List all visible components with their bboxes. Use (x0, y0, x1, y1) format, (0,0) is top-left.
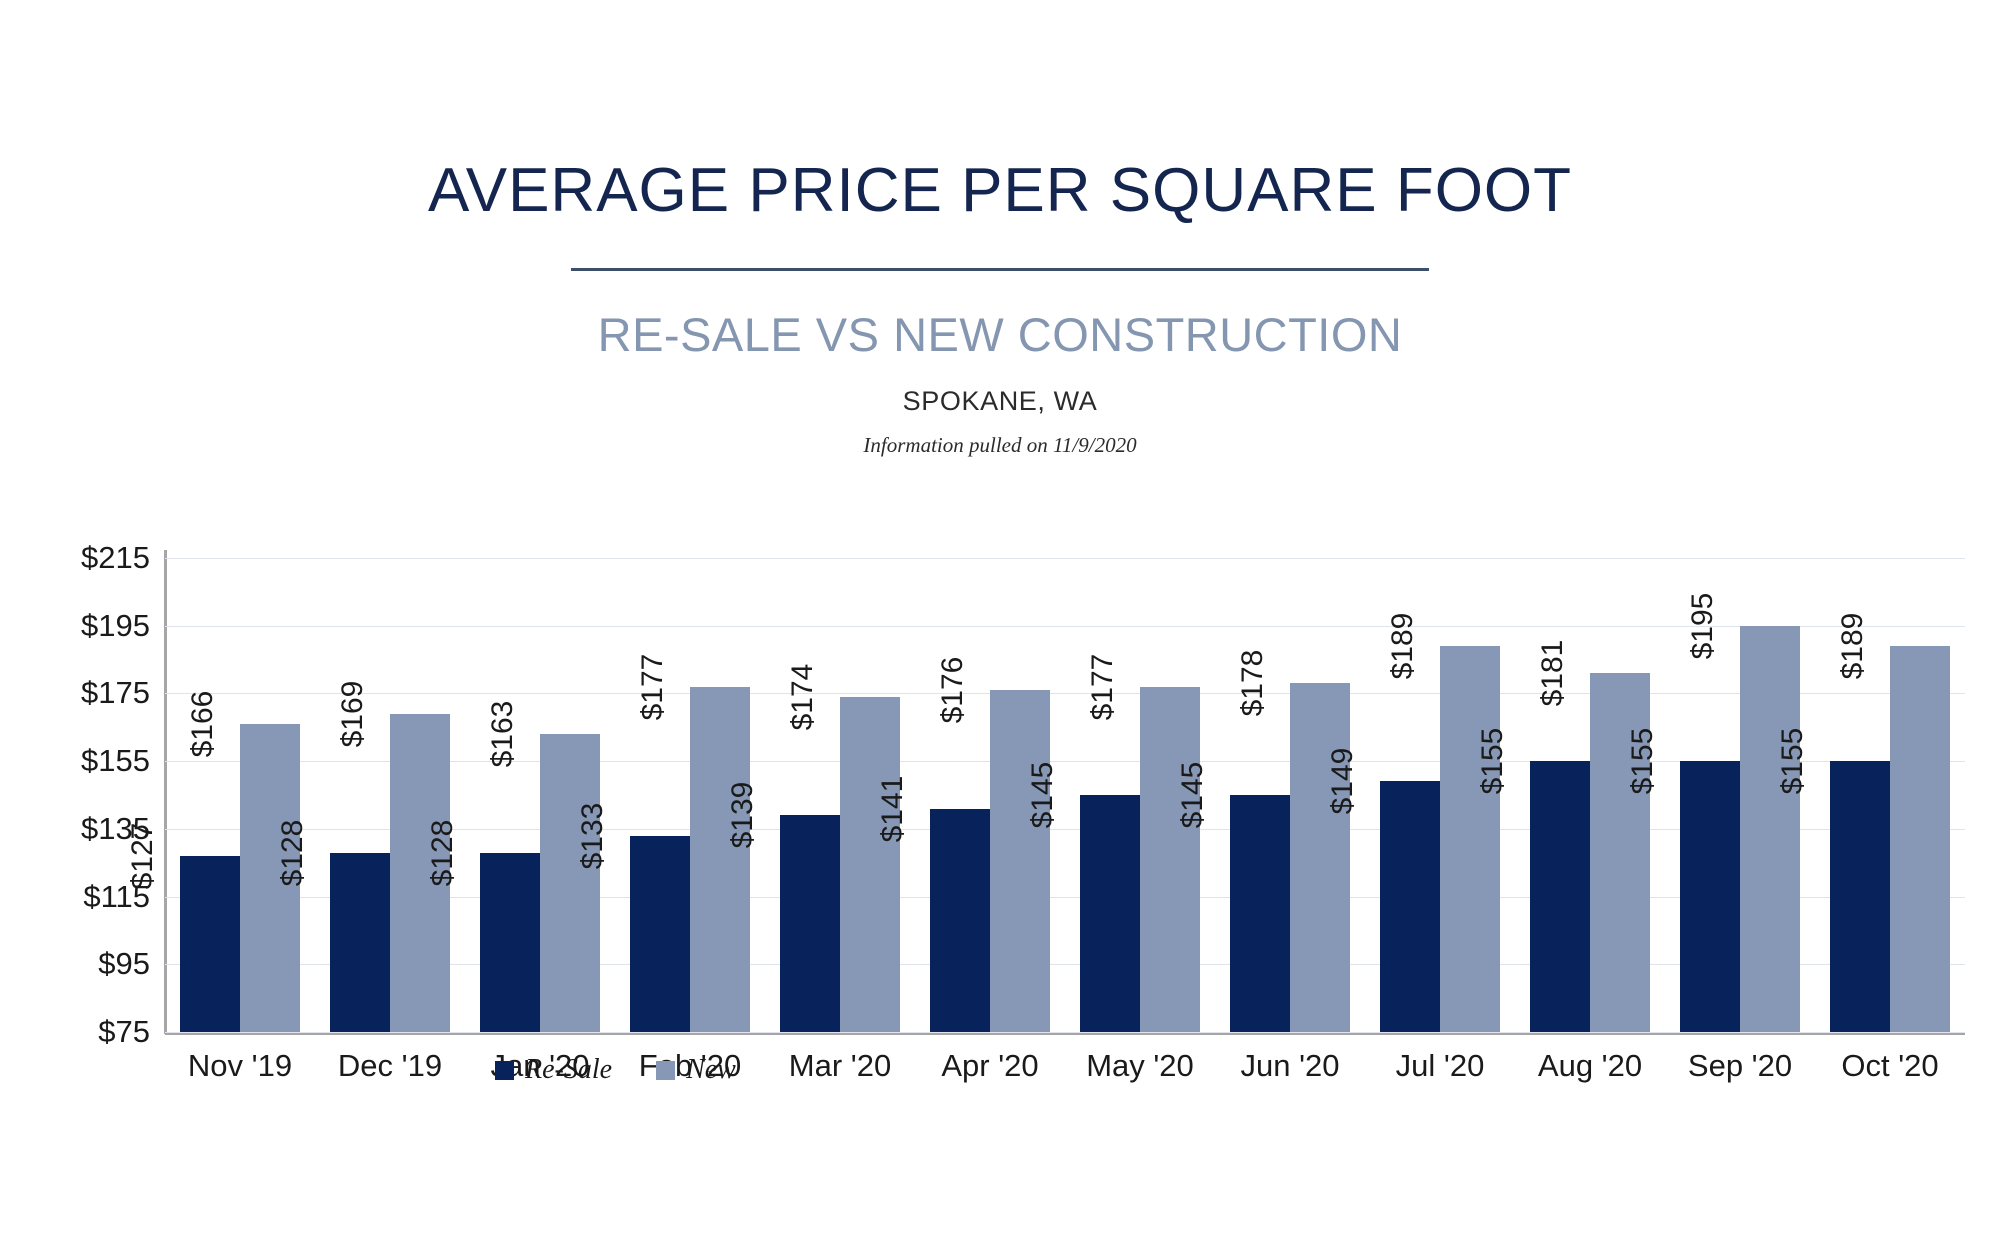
legend-item[interactable]: New (656, 1056, 736, 1084)
bar-value-label: $169 (390, 680, 420, 747)
bar-group: $128$169 (315, 558, 465, 1032)
bar-group: $155$189 (1815, 558, 1965, 1032)
bar-value-text: $155 (1778, 728, 1808, 795)
bar-value-label: $155 (1830, 728, 1860, 795)
bar-value-text: $176 (938, 657, 968, 724)
x-axis-tick: Apr '20 (915, 1048, 1065, 1084)
bar-group: $128$163 (465, 558, 615, 1032)
bar-value-label: $145 (1230, 762, 1260, 829)
bar-slot: $169 (390, 558, 450, 1032)
bar-value-label: $128 (330, 819, 360, 886)
bar-new[interactable]: $178 (1290, 683, 1350, 1032)
bar-groups: $127$166$128$169$128$163$133$177$139$174… (165, 558, 1965, 1032)
bar-value-text: $128 (428, 819, 458, 886)
legend-label: Re-Sale (525, 1056, 612, 1084)
chart-legend: Re-SaleNew (495, 1056, 736, 1084)
bar-resale[interactable]: $155 (1680, 761, 1740, 1032)
bar-value-text: $155 (1628, 728, 1658, 795)
bar-resale[interactable]: $145 (1080, 795, 1140, 1032)
bar-value-label: $145 (1080, 762, 1110, 829)
bar-chart: $215$195$175$155$135$115$95$75 $127$166$… (0, 520, 2000, 1120)
bar-value-label: $155 (1680, 728, 1710, 795)
bar-new[interactable]: $177 (690, 687, 750, 1032)
legend-swatch-icon (656, 1061, 675, 1080)
plot-area: $127$166$128$169$128$163$133$177$139$174… (165, 558, 1965, 1032)
bar-value-text: $139 (728, 782, 758, 849)
bar-slot: $166 (240, 558, 300, 1032)
bar-resale[interactable]: $141 (930, 809, 990, 1032)
bar-value-label: $141 (930, 775, 960, 842)
bar-value-text: $189 (1388, 613, 1418, 680)
bar-value-text: $169 (338, 680, 368, 747)
x-axis-tick: Jun '20 (1215, 1048, 1365, 1084)
bar-value-text: $128 (278, 819, 308, 886)
bar-value-label: $195 (1740, 592, 1770, 659)
legend-label: New (686, 1056, 736, 1084)
x-axis-tick: Sep '20 (1665, 1048, 1815, 1084)
bar-value-text: $145 (1178, 762, 1208, 829)
bar-value-text: $195 (1688, 592, 1718, 659)
bar-new[interactable]: $174 (840, 697, 900, 1032)
legend-swatch-icon (495, 1061, 514, 1080)
title-divider (571, 268, 1429, 271)
bar-value-text: $174 (788, 663, 818, 730)
bar-value-text: $181 (1538, 640, 1568, 707)
bar-resale[interactable]: $128 (330, 853, 390, 1032)
bar-new[interactable]: $163 (540, 734, 600, 1032)
bar-value-text: $141 (878, 775, 908, 842)
bar-value-text: $127 (128, 823, 158, 890)
page-title: AVERAGE PRICE PER SQUARE FOOT (0, 0, 2000, 222)
x-axis-tick: Jul '20 (1365, 1048, 1515, 1084)
bar-slot: $189 (1440, 558, 1500, 1032)
y-axis-tick: $155 (30, 743, 150, 779)
x-axis-tick: Mar '20 (765, 1048, 915, 1084)
bar-resale[interactable]: $155 (1830, 761, 1890, 1032)
bar-value-text: $177 (1088, 653, 1118, 720)
bar-slot: $181 (1590, 558, 1650, 1032)
bar-value-text: $133 (578, 802, 608, 869)
bar-value-label: $177 (1140, 653, 1170, 720)
bar-value-text: $178 (1238, 650, 1268, 717)
bar-resale[interactable]: $139 (780, 815, 840, 1032)
x-axis-tick: May '20 (1065, 1048, 1215, 1084)
data-pulled-note: Information pulled on 11/9/2020 (0, 435, 2000, 456)
bar-group: $155$181 (1515, 558, 1665, 1032)
bar-value-label: $177 (690, 653, 720, 720)
bar-resale[interactable]: $149 (1380, 781, 1440, 1032)
bar-resale[interactable]: $127 (180, 856, 240, 1032)
bar-value-label: $139 (780, 782, 810, 849)
bar-value-label: $127 (180, 823, 210, 890)
x-axis-tick: Nov '19 (165, 1048, 315, 1084)
bar-value-text: $189 (1838, 613, 1868, 680)
bar-value-label: $181 (1590, 640, 1620, 707)
bar-resale[interactable]: $133 (630, 836, 690, 1032)
bar-value-label: $189 (1440, 613, 1470, 680)
bar-value-text: $155 (1478, 728, 1508, 795)
bar-value-label: $178 (1290, 650, 1320, 717)
bar-value-text: $166 (188, 691, 218, 758)
bar-slot: $189 (1890, 558, 1950, 1032)
x-axis-line (165, 1032, 1965, 1035)
location-label: SPOKANE, WA (0, 388, 2000, 415)
bar-new[interactable]: $189 (1890, 646, 1950, 1032)
bar-resale[interactable]: $145 (1230, 795, 1290, 1032)
bar-value-label: $189 (1890, 613, 1920, 680)
x-axis-tick: Oct '20 (1815, 1048, 1965, 1084)
bar-new[interactable]: $189 (1440, 646, 1500, 1032)
x-axis-tick: Aug '20 (1515, 1048, 1665, 1084)
bar-slot: $128 (480, 558, 540, 1032)
bar-value-text: $177 (638, 653, 668, 720)
y-axis-tick: $195 (30, 608, 150, 644)
bar-value-label: $128 (480, 819, 510, 886)
bar-group: $149$189 (1365, 558, 1515, 1032)
bar-value-label: $149 (1380, 748, 1410, 815)
y-axis-tick: $215 (30, 540, 150, 576)
bar-slot: $145 (1080, 558, 1140, 1032)
y-axis-tick-labels: $215$195$175$155$135$115$95$75 (30, 520, 150, 1040)
y-axis-tick: $75 (30, 1014, 150, 1050)
bar-slot: $145 (1230, 558, 1290, 1032)
legend-item[interactable]: Re-Sale (495, 1056, 612, 1084)
bar-new[interactable]: $177 (1140, 687, 1200, 1032)
bar-value-label: $155 (1530, 728, 1560, 795)
bar-slot: $139 (780, 558, 840, 1032)
bar-new[interactable]: $176 (990, 690, 1050, 1032)
bar-slot: $128 (330, 558, 390, 1032)
y-axis-tick: $95 (30, 946, 150, 982)
bar-value-label: $174 (840, 663, 870, 730)
bar-value-text: $145 (1028, 762, 1058, 829)
bar-value-label: $163 (540, 701, 570, 768)
bar-slot: $127 (180, 558, 240, 1032)
bar-value-label: $133 (630, 802, 660, 869)
bar-slot: $195 (1740, 558, 1800, 1032)
bar-resale[interactable]: $128 (480, 853, 540, 1032)
chart-header: AVERAGE PRICE PER SQUARE FOOT RE-SALE VS… (0, 0, 2000, 456)
bar-slot: $163 (540, 558, 600, 1032)
bar-value-text: $163 (488, 701, 518, 768)
y-axis-tick: $175 (30, 675, 150, 711)
bar-value-text: $149 (1328, 748, 1358, 815)
bar-resale[interactable]: $155 (1530, 761, 1590, 1032)
x-axis-tick-labels: Nov '19Dec '19Jan '20Feb '20Mar '20Apr '… (165, 1048, 1965, 1084)
bar-new[interactable]: $195 (1740, 626, 1800, 1032)
x-axis-tick: Dec '19 (315, 1048, 465, 1084)
bar-slot: $155 (1530, 558, 1590, 1032)
chart-subtitle: RE-SALE VS NEW CONSTRUCTION (0, 311, 2000, 358)
bar-value-label: $166 (240, 691, 270, 758)
bar-group: $155$195 (1665, 558, 1815, 1032)
bar-value-label: $176 (990, 657, 1020, 724)
bar-slot: $133 (630, 558, 690, 1032)
bar-slot: $141 (930, 558, 990, 1032)
bar-group: $127$166 (165, 558, 315, 1032)
